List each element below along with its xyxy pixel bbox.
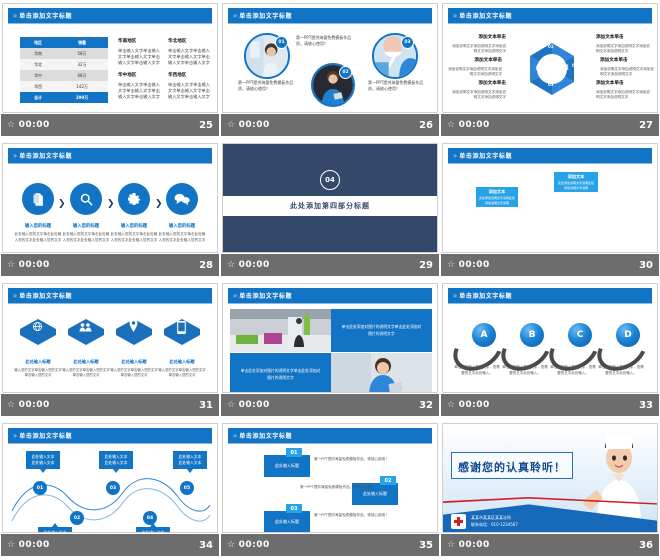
chevron-right-icon: » [13,292,16,300]
callout-body: 此处添加说明文字说明此处添加说明文字说明 [558,181,594,190]
photo-caption: 第一PPT提供海量免费模板作品质，请放心使用！ [238,80,300,92]
star-icon: ☆ [447,121,456,130]
chevron-right-icon: » [233,432,236,440]
star-center-label: 此处输入标题 [532,64,572,73]
table-row: 华北32万 [20,59,108,70]
slide-number: 32 [419,400,433,411]
timer-label: ☆00:00 [227,260,270,270]
chevron-right-icon: » [233,292,236,300]
table-col-header: 销量 [56,37,108,48]
star-icon: ☆ [7,261,16,270]
header-underline [228,23,432,24]
star-item-body: 添加说明文字添加说明文字添加说明文字添加说明文字 [452,44,506,53]
star-item-body: 添加说明文字添加说明文字添加说明文字添加说明文字 [600,67,654,76]
star-icon: ☆ [7,541,16,550]
photo-nurse [331,353,432,393]
slide-header-title: 单击添加文字标题 [239,291,292,300]
star-icon: ☆ [227,541,236,550]
step-title: 输入您的标题 [15,223,61,229]
table-cell: 华西 [20,81,56,92]
star-num: 03 [548,82,554,87]
location-pin-icon [128,319,139,332]
slide-thumb-27[interactable]: » 单击添加文字标题 此处输入标题 01 02 03 04 05 06 添加文本… [442,3,658,113]
region-title: 华南地区 [118,39,164,46]
slide-thumb-31[interactable]: » 单击添加文字标题 此处输入标题 输入您的文字单击输入您的文字单击输入您的文字 [2,283,218,393]
chevron-right-icon: » [13,12,16,20]
region-body: 单击输入文字单击输入文字单击输入文字单击输入文字单击输入文字 [168,82,210,99]
clinic-phone: 联系电话：010-1234567 [471,521,518,528]
step-badge: 01 [275,36,288,49]
panel-text: 单击此处添加对图片的说明文字单击此处添加对图片的说明文字 [341,324,422,337]
table-row: 华西142万 [20,81,108,92]
timer-label: ☆00:00 [7,260,50,270]
timer-label: ☆00:00 [7,120,50,130]
ribbon-body: 输入您的文字单击输入您的文字单击输入您的文字 [157,368,207,379]
slide-footer: ☆00:00 26 [221,114,439,136]
contact-info: 某某市某某区某某诊所 联系电话：010-1234567 [471,514,518,528]
step-title: 输入您的标题 [111,223,157,229]
title-box: 此处输入标题 [264,511,310,533]
region-body: 单击输入文字单击输入文字单击输入文字单击输入文字单击输入文字 [118,82,160,99]
slide-footer: ☆00:00 27 [441,114,659,136]
blue-text-panel: 单击此处添加对图片的说明文字单击此处添加对图片的说明文字 [230,353,331,393]
header-underline [8,163,212,164]
slide-cell-30[interactable]: » 单击添加文字标题 添加文本 此处添加说明文字说明此处添加说明文字说明 添加文… [440,140,660,280]
timeline-node: 04 [143,511,157,525]
timeline-node: 05 [180,481,194,495]
slide-number: 27 [639,120,653,131]
header-underline [8,23,212,24]
ribbon-title: 此处输入标题 [110,359,158,365]
star-item-text: 添加文本单击添加说明文字添加说明文字添加说明文字添加说明文字 [452,81,506,101]
slide-body: 地区销量 华南58万 华北32万 华中68万 华西142万 总计290万 华南地… [8,25,212,108]
slide-number: 29 [419,260,433,271]
star-num: 02 [572,63,578,68]
mobile-icon [177,321,186,334]
star-item-text: 添加文本单击添加说明文字添加说明文字添加说明文字添加说明文字 [596,35,650,55]
region-block: 华西地区 单击输入文字单击输入文字单击输入文字单击输入文字单击输入文字 [168,73,214,100]
slide-cell-31[interactable]: » 单击添加文字标题 此处输入标题 输入您的文字单击输入您的文字单击输入您的文字 [0,280,220,420]
table-row: 华中68万 [20,70,108,81]
table-cell: 华北 [20,59,56,70]
photo-nurse-waving [579,428,651,524]
slide-thumb-36[interactable]: 感谢您的认真聆听！ 某某市某某区某某诊所 联系电话：010-1234567 [442,423,658,533]
table-total-row: 总计290万 [20,92,108,103]
header-underline [228,303,432,304]
star-num: 04 [526,82,532,87]
star-icon: ☆ [7,121,16,130]
ribbon-title: 此处输入标题 [158,359,206,365]
arrow-separator: ❯ [155,199,163,209]
table-cell: 华中 [20,70,56,81]
timer-label: ☆00:00 [7,400,50,410]
slide-thumb-28[interactable]: » 单击添加文字标题 ❯ ❯ ❯ 输入您的标题 此处输入您的文字单击此处输入您的… [2,143,218,253]
slide-cell-28[interactable]: » 单击添加文字标题 ❯ ❯ ❯ 输入您的标题 此处输入您的文字单击此处输入您的… [0,140,220,280]
header-underline [448,303,652,304]
slide-body: A 单击此处输入您的文字，您需要的文字此处输入。 B 单击此处输入您的文字，您需… [448,305,652,388]
slide-footer: ☆00:00 28 [1,254,219,276]
slide-body: 单击此处添加对图片的说明文字单击此处添加对图片的说明文字 单击此处添加对图片的说… [228,305,432,388]
timeline-bubble: 此处输入文本 此处输入文本 [136,527,170,533]
table-cell: 68万 [56,70,108,81]
step-body: 此处输入您的文字单击此处输入您的文字此处输入您的文字 [62,232,110,244]
sphere-body: 单击此处输入您的文字，您需要的文字此处输入。 [454,365,500,376]
slide-header-bar: » 单击添加文字标题 [8,428,212,443]
header-underline [8,303,212,304]
slide-number: 26 [419,120,433,131]
timeline-node: 02 [70,511,84,525]
step-title: 输入您的标题 [63,223,109,229]
star-item-text: 添加文本单击添加说明文字添加说明文字添加说明文字添加说明文字 [448,58,502,78]
slide-cell-27[interactable]: » 单击添加文字标题 此处输入标题 01 02 03 04 05 06 添加文本… [440,0,660,140]
star-item-title: 添加文本单击 [452,35,506,42]
thankyou-background: 感谢您的认真聆听！ 某某市某某区某某诊所 联系电话：010-1234567 [443,424,657,532]
star-item-body: 添加说明文字添加说明文字添加说明文字添加说明文字 [596,90,650,99]
header-underline [448,163,652,164]
star-item-title: 添加文本单击 [452,81,506,88]
slide-header-bar: » 单击添加文字标题 [8,288,212,303]
timeline-bubble: 此处输入文本 此处输入文本 [173,451,207,469]
star-num: 05 [520,63,526,68]
section-title-band: 此处添加第四部分标题 [223,196,437,216]
ribbon-title: 此处输入标题 [14,359,62,365]
ribbon-title: 此处输入标题 [62,359,110,365]
star-item-text: 添加文本单击添加说明文字添加说明文字添加说明文字添加说明文字 [452,35,506,55]
slide-cell-36[interactable]: 感谢您的认真聆听！ 某某市某某区某某诊所 联系电话：010-1234567 ☆0… [440,420,660,560]
step-body: 此处输入您的文字单击此处输入您的文字此处输入您的文字 [158,232,206,244]
star-item-title: 添加文本单击 [596,81,650,88]
timer-label: ☆00:00 [447,260,490,270]
star-item-title: 添加文本单击 [596,35,650,42]
slide-body: 01 第一PPT提供海量免费模板作品质，请放心使用！ 02 第一PPT提供海量免… [228,25,432,108]
slide-cell-33[interactable]: » 单击添加文字标题 A 单击此处输入您的文字，您需要的文字此处输入。 B 单击… [440,280,660,420]
slide-footer: ☆00:00 36 [441,534,659,556]
step-badge: 02 [339,66,352,79]
slide-footer: ☆00:00 29 [221,254,439,276]
timeline-node: 01 [33,481,47,495]
sphere-body: 单击此处输入您的文字，您需要的文字此处输入。 [598,365,644,376]
slide-header-title: 单击添加文字标题 [19,291,72,300]
letter-sphere: C [568,323,592,347]
slide-header-bar: » 单击添加文字标题 [448,288,652,303]
slide-number: 36 [639,540,653,551]
slide-footer: ☆00:00 35 [221,534,439,556]
ribbon-body: 输入您的文字单击输入您的文字单击输入您的文字 [61,368,111,379]
globe-icon [32,321,43,332]
slide-header-title: 单击添加文字标题 [459,151,512,160]
slide-body: 此处输入标题 01 第一PPT提供海量免费模板作品，请放心使用！ 此处输入标题 … [228,445,432,528]
slide-header-bar: » 单击添加文字标题 [8,8,212,23]
step-body: 此处输入您的文字单击此处输入您的文字此处输入您的文字 [14,232,62,244]
medical-cross-icon [451,514,466,529]
star-item-body: 添加说明文字添加说明文字添加说明文字添加说明文字 [448,67,502,76]
slide-header-bar: » 单击添加文字标题 [448,8,652,23]
panel-text: 单击此处添加对图片的说明文字单击此处添加对图片的说明文字 [240,368,321,381]
slide-number: 33 [639,400,653,411]
timeline-node: 03 [106,481,120,495]
slide-header-title: 单击添加文字标题 [19,151,72,160]
slide-header-bar: » 单击添加文字标题 [228,8,432,23]
step-body: 第一PPT提供海量免费模板作品，请放心使用！ [314,456,406,462]
slide-thumb-35[interactable]: » 单击添加文字标题 此处输入标题 01 第一PPT提供海量免费模板作品，请放心… [222,423,438,533]
table-row: 华南58万 [20,48,108,59]
section-number-badge: 04 [320,170,340,190]
step-body: 第一PPT提供海量免费模板作品，请放心使用！ [300,484,392,490]
ribbon-body: 输入您的文字单击输入您的文字单击输入您的文字 [109,368,159,379]
callout-body: 此处添加说明文字说明此处添加说明文字说明 [479,196,515,205]
slide-cell-29[interactable]: 04 此处添加第四部分标题 ☆00:00 29 [220,140,440,280]
timer-label: ☆00:00 [447,400,490,410]
header-underline [448,23,652,24]
slide-thumb-33[interactable]: » 单击添加文字标题 A 单击此处输入您的文字，您需要的文字此处输入。 B 单击… [442,283,658,393]
timer-label: ☆00:00 [227,120,270,130]
chevron-right-icon: » [13,432,16,440]
star-item-title: 添加文本单击 [448,58,502,65]
slide-footer: ☆00:00 30 [441,254,659,276]
step-badge: 03 [401,36,414,49]
slide-header-title: 单击添加文字标题 [459,11,512,20]
header-underline [228,443,432,444]
star-icon: ☆ [227,261,236,270]
slide-footer: ☆00:00 31 [1,394,219,416]
search-icon [70,183,102,215]
sphere-body: 单击此处输入您的文字，您需要的文字此处输入。 [550,365,596,376]
region-block: 华中地区 单击输入文字单击输入文字单击输入文字单击输入文字单击输入文字 [118,73,164,100]
slide-thumbnail-grid: » 单击添加文字标题 地区销量 华南58万 华北32万 华中68万 华西142万… [0,0,660,560]
slide-header-title: 单击添加文字标题 [19,431,72,440]
slide-body: 此处输入标题 01 02 03 04 05 06 添加文本单击添加说明文字添加说… [448,25,652,108]
slide-thumb-34[interactable]: » 单击添加文字标题 01 02 03 04 05 此处输入文本 此处输入文本 … [2,423,218,533]
star-num: 01 [548,44,554,49]
slide-cell-26[interactable]: » 单击添加文字标题 01 第一PPT提供海量免费模板作品质，请放心使用！ [220,0,440,140]
region-title: 华北地区 [168,39,214,46]
timer-label: ☆00:00 [447,120,490,130]
photo-office [230,309,331,352]
region-sales-table: 地区销量 华南58万 华北32万 华中68万 华西142万 总计290万 [20,37,108,103]
star-item-body: 添加说明文字添加说明文字添加说明文字添加说明文字 [596,44,650,53]
timer-label: ☆00:00 [7,540,50,550]
header-underline [8,443,212,444]
chevron-right-icon: » [453,292,456,300]
table-cell: 142万 [56,81,108,92]
slide-number: 35 [419,540,433,551]
table-cell: 290万 [56,92,108,103]
step-body: 第一PPT提供海量免费模板作品，请放心使用！ [314,512,406,518]
slide-number: 25 [199,120,213,131]
arrow-separator: ❯ [107,199,115,209]
slide-header-bar: » 单击添加文字标题 [448,148,652,163]
slide-cell-25[interactable]: » 单击添加文字标题 地区销量 华南58万 华北32万 华中68万 华西142万… [0,0,220,140]
table-cell: 华南 [20,48,56,59]
letter-sphere: D [616,323,640,347]
slide-footer: ☆00:00 34 [1,534,219,556]
star-icon: ☆ [447,261,456,270]
star-item-text: 添加文本单击添加说明文字添加说明文字添加说明文字添加说明文字 [596,81,650,101]
slide-thumb-32[interactable]: » 单击添加文字标题 单击此处添加对图片的说明文字单击此处添加对图片的说明文字 … [222,283,438,393]
timeline-bubble: 此处输入文本 此处输入文本 [38,527,72,533]
slide-header-bar: » 单击添加文字标题 [228,288,432,303]
chat-icon [166,183,198,215]
star-num: 06 [526,44,532,49]
photo-caption: 第一PPT提供海量免费模板作品质，请放心使用！ [296,35,358,47]
region-body: 单击输入文字单击输入文字单击输入文字单击输入文字单击输入文字 [118,48,160,65]
slide-cell-32[interactable]: » 单击添加文字标题 单击此处添加对图片的说明文字单击此处添加对图片的说明文字 … [220,280,440,420]
slide-body: 01 02 03 04 05 此处输入文本 此处输入文本 此处输入文本 此处输入… [8,445,212,528]
callout-title: 添加文本 [557,174,595,180]
letter-sphere: B [520,323,544,347]
slide-body: 此处输入标题 输入您的文字单击输入您的文字单击输入您的文字 此处输入标题 输入您… [8,305,212,388]
step-body: 此处输入您的文字单击此处输入您的文字此处输入您的文字 [110,232,158,244]
table-cell: 32万 [56,59,108,70]
chevron-right-icon: » [13,152,16,160]
star-icon: ☆ [447,541,456,550]
region-title: 华西地区 [168,73,214,80]
slide-body: ❯ ❯ ❯ 输入您的标题 此处输入您的文字单击此处输入您的文字此处输入您的文字 … [8,165,212,248]
blue-text-panel: 单击此处添加对图片的说明文字单击此处添加对图片的说明文字 [331,309,432,352]
gear-icon [118,183,150,215]
letter-sphere: A [472,323,496,347]
slide-thumb-25[interactable]: » 单击添加文字标题 地区销量 华南58万 华北32万 华中68万 华西142万… [2,3,218,113]
timer-label: ☆00:00 [447,540,490,550]
section-divider-background: 04 此处添加第四部分标题 [223,144,437,252]
ribbon-body: 输入您的文字单击输入您的文字单击输入您的文字 [13,368,63,379]
timer-label: ☆00:00 [227,540,270,550]
slide-cell-35[interactable]: » 单击添加文字标题 此处输入标题 01 第一PPT提供海量免费模板作品，请放心… [220,420,440,560]
star-item-title: 添加文本单击 [600,58,654,65]
region-block: 华南地区 单击输入文字单击输入文字单击输入文字单击输入文字单击输入文字 [118,39,164,66]
step-number: 03 [286,504,302,513]
slide-header-title: 单击添加文字标题 [239,431,292,440]
slide-header-bar: » 单击添加文字标题 [8,148,212,163]
slide-number: 30 [639,260,653,271]
timeline-bubble: 此处输入文本 此处输入文本 [26,451,60,469]
chart-callout: 添加文本 此处添加说明文字说明此处添加说明文字说明 [476,187,518,207]
document-icon [22,183,54,215]
title-box: 此处输入标题 [264,455,310,477]
step-title: 输入您的标题 [159,223,205,229]
slide-footer: ☆00:00 32 [221,394,439,416]
star-item-text: 添加文本单击添加说明文字添加说明文字添加说明文字添加说明文字 [600,58,654,78]
slide-footer: ☆00:00 25 [1,114,219,136]
table-cell: 58万 [56,48,108,59]
timer-label: ☆00:00 [227,400,270,410]
step-number: 01 [286,448,302,457]
photo-caption: 第一PPT提供海量免费模板作品质，请放心使用！ [368,80,430,92]
slide-number: 31 [199,400,213,411]
slide-header-title: 单击添加文字标题 [459,291,512,300]
slide-thumb-30[interactable]: » 单击添加文字标题 添加文本 此处添加说明文字说明此处添加说明文字说明 添加文… [442,143,658,253]
slide-cell-34[interactable]: » 单击添加文字标题 01 02 03 04 05 此处输入文本 此处输入文本 … [0,420,220,560]
chevron-right-icon: » [233,12,236,20]
people-icon [79,322,92,332]
region-body: 单击输入文字单击输入文字单击输入文字单击输入文字单击输入文字 [168,48,210,65]
slide-footer: ☆00:00 33 [441,394,659,416]
slide-header-bar: » 单击添加文字标题 [228,428,432,443]
callout-title: 添加文本 [479,189,515,195]
region-title: 华中地区 [118,73,164,80]
slide-thumb-29[interactable]: 04 此处添加第四部分标题 [222,143,438,253]
slide-body: 添加文本 此处添加说明文字说明此处添加说明文字说明 添加文本 此处添加说明文字说… [448,165,652,248]
star-icon: ☆ [227,401,236,410]
star-icon: ☆ [7,401,16,410]
slide-header-title: 单击添加文字标题 [19,11,72,20]
table-col-header: 地区 [20,37,56,48]
slide-header-title: 单击添加文字标题 [239,11,292,20]
chevron-right-icon: » [453,12,456,20]
slide-thumb-26[interactable]: » 单击添加文字标题 01 第一PPT提供海量免费模板作品质，请放心使用！ [222,3,438,113]
chart-callout: 添加文本 此处添加说明文字说明此处添加说明文字说明 [554,172,598,192]
star-icon: ☆ [227,121,236,130]
section-title: 此处添加第四部分标题 [290,201,370,211]
table-cell: 总计 [20,92,56,103]
chevron-right-icon: » [453,152,456,160]
slide-number: 34 [199,540,213,551]
sphere-body: 单击此处输入您的文字，您需要的文字此处输入。 [502,365,548,376]
star-icon: ☆ [447,401,456,410]
arrow-separator: ❯ [58,199,66,209]
star-item-body: 添加说明文字添加说明文字添加说明文字添加说明文字 [452,90,506,99]
thankyou-title: 感谢您的认真聆听！ [458,461,566,474]
slide-number: 28 [199,260,213,271]
thankyou-title-box: 感谢您的认真聆听！ [451,452,573,479]
region-block: 华北地区 单击输入文字单击输入文字单击输入文字单击输入文字单击输入文字 [168,39,214,66]
clinic-name: 某某市某某区某某诊所 [471,514,518,521]
timeline-bubble: 此处输入文本 此处输入文本 [99,451,133,469]
